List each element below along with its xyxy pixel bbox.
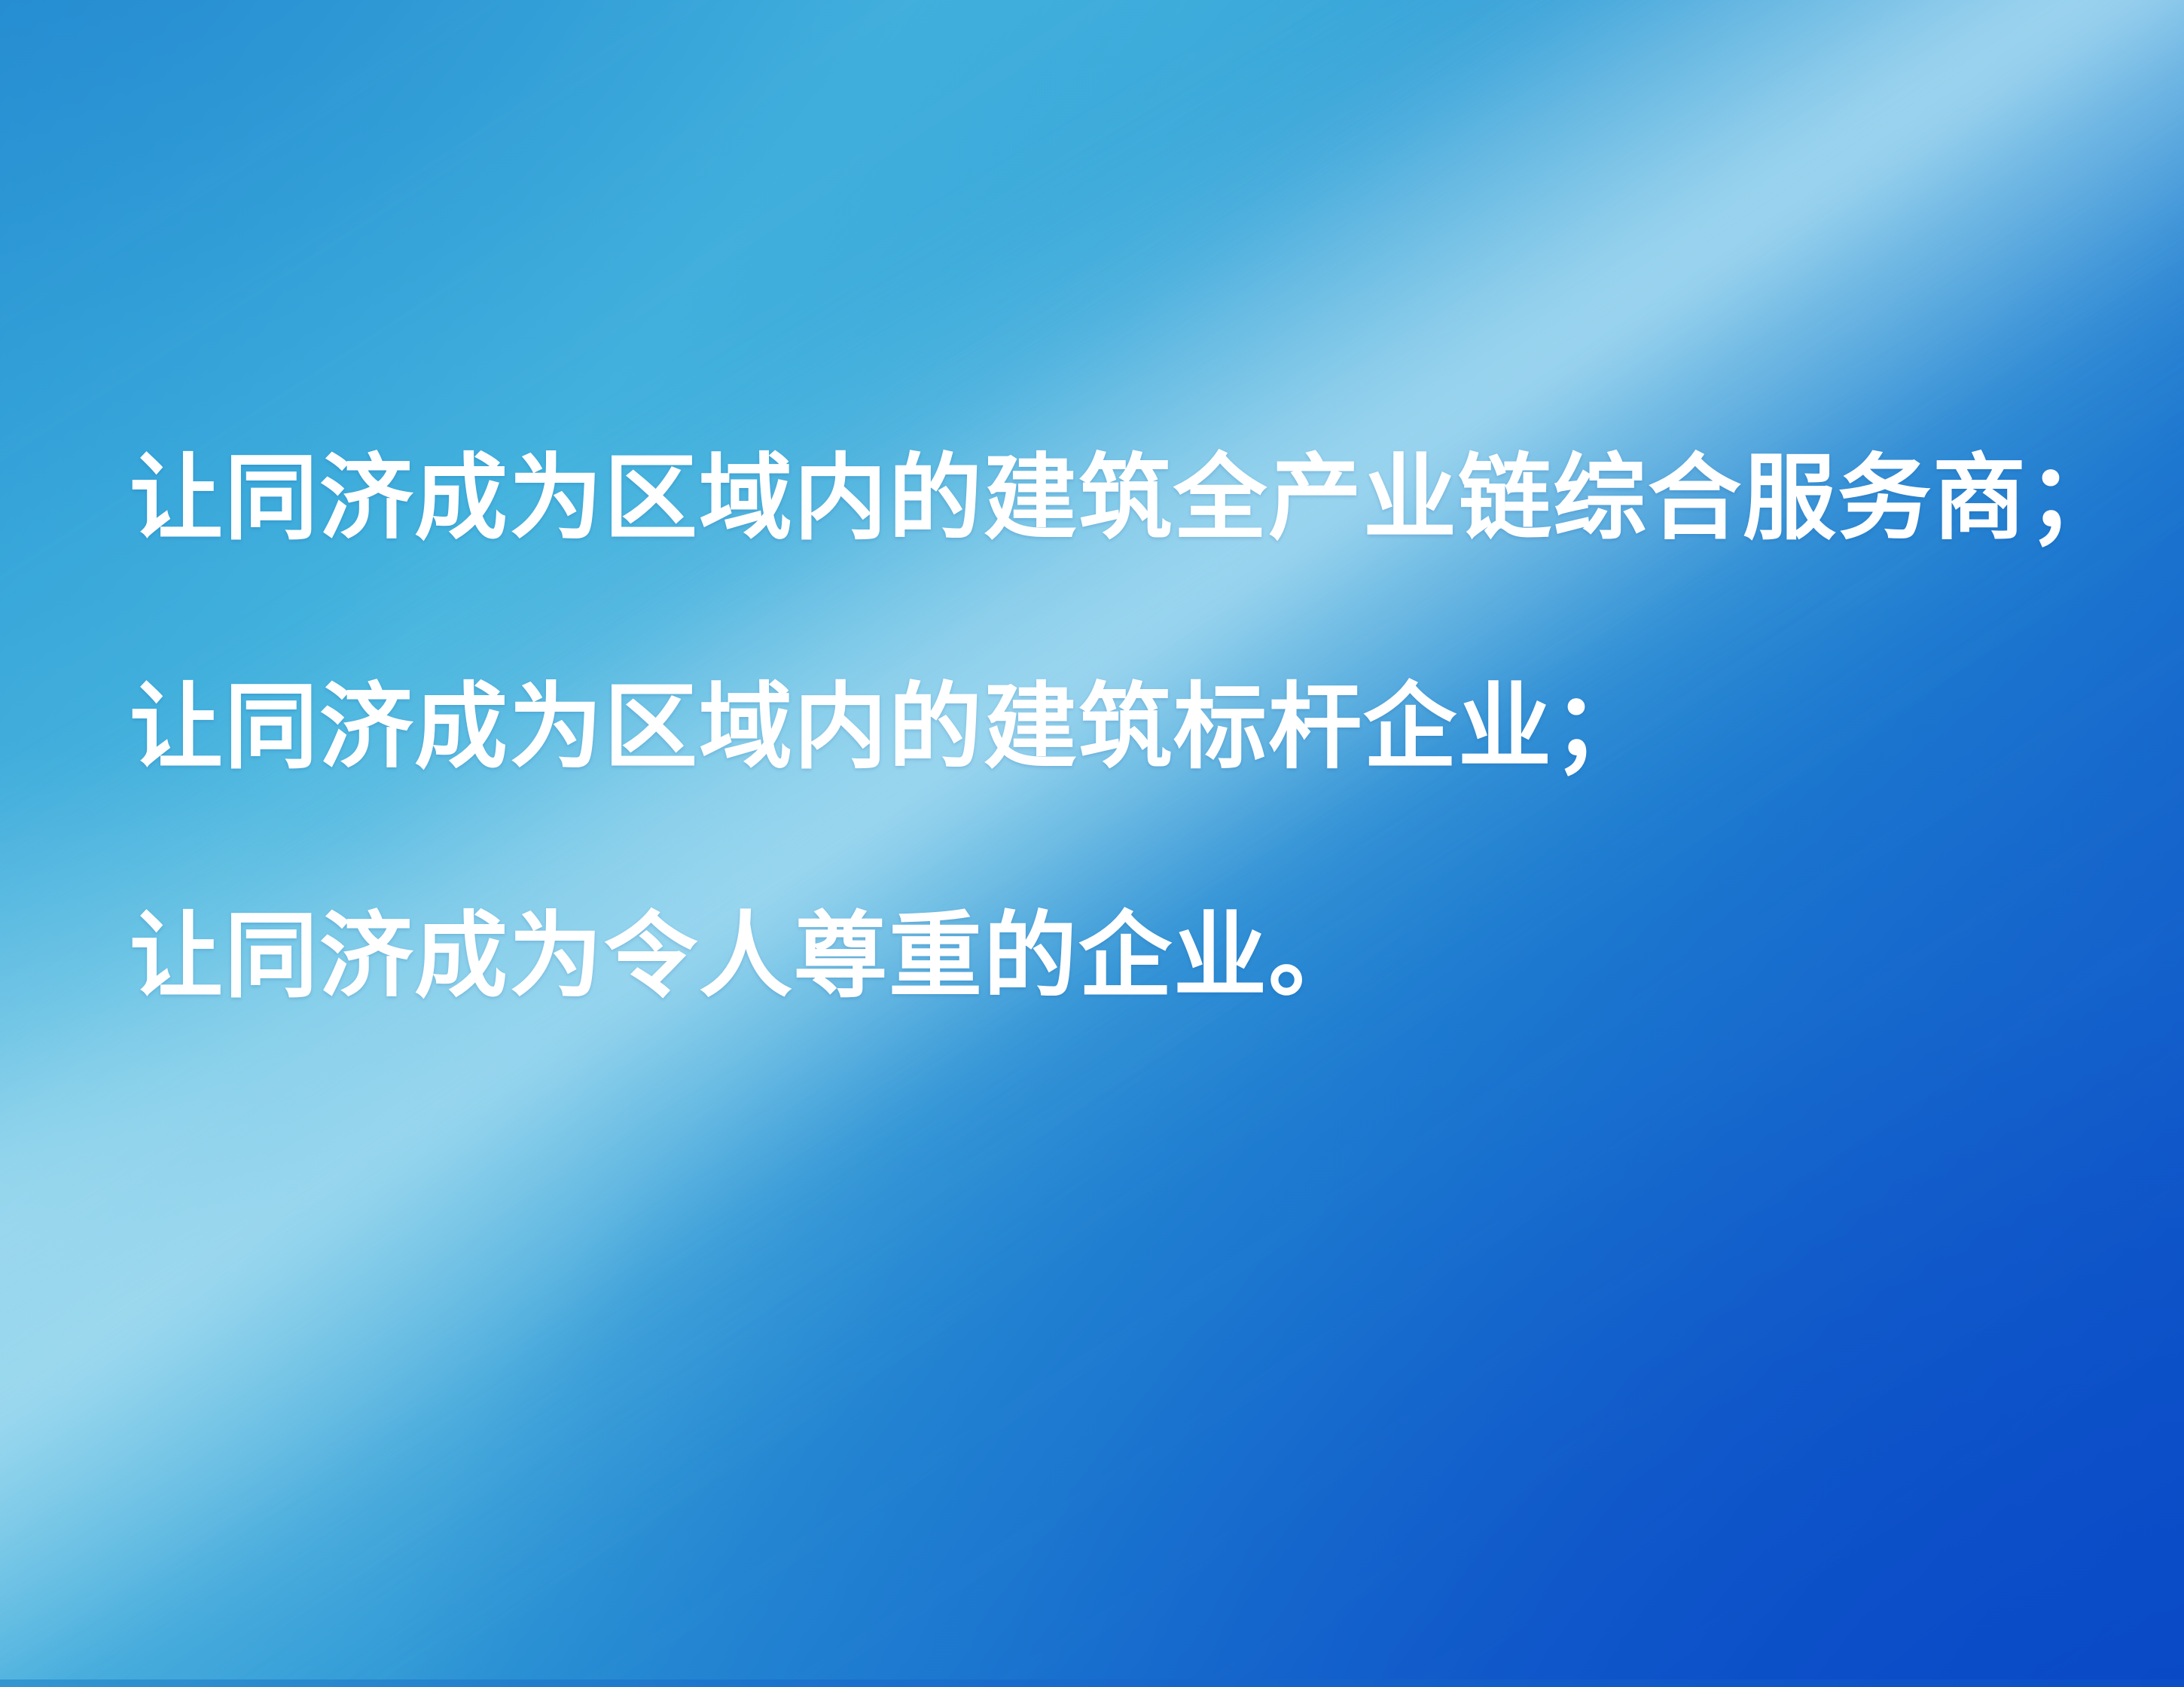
slide-body-line-1: 让同济成为区域内的建筑全产业链综合服务商； — [130, 452, 2088, 545]
slide-text-block: 让同济成为区域内的建筑全产业链综合服务商； 让同济成为区域内的建筑标杆企业； 让… — [130, 452, 2088, 1003]
slide-body-line-3: 让同济成为令人尊重的企业。 — [130, 910, 2088, 1003]
slide-body-line-2: 让同济成为区域内的建筑标杆企业； — [130, 681, 2088, 774]
background-bottom-edge-line — [0, 1679, 2184, 1687]
presentation-slide: 让同济成为区域内的建筑全产业链综合服务商； 让同济成为区域内的建筑标杆企业； 让… — [0, 0, 2184, 1687]
